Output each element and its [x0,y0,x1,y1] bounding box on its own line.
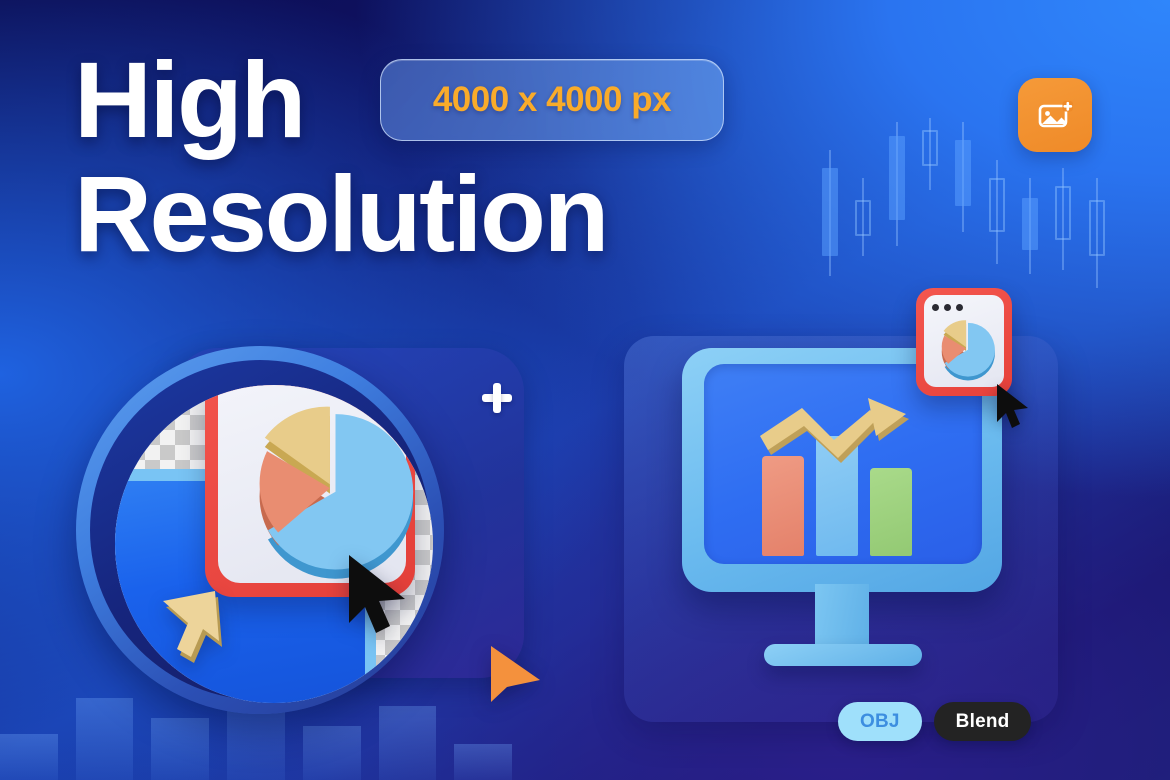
black-arrow-cursor [993,382,1033,430]
bar-1 [762,456,804,556]
candlestick [1022,128,1038,318]
candlestick-body [955,140,971,206]
plus-icon[interactable] [482,383,512,413]
lens-viewport [115,385,433,703]
candlestick-body [1089,200,1105,256]
candlestick [855,128,871,318]
candlestick-wick [1096,178,1098,288]
tag-blend-label: Blend [956,711,1010,733]
decoration-bar [151,718,209,780]
tag-blend[interactable]: Blend [934,702,1032,741]
tag-obj[interactable]: OBJ [838,702,922,741]
candlestick [1055,128,1071,318]
candlestick [1089,128,1105,318]
candlestick-body [989,178,1005,232]
lens-ring-outer [76,346,444,714]
page-title: High 4000 x 4000 px Resolution [74,48,724,265]
format-tags: OBJ Blend [838,702,1031,741]
candlestick-body [889,136,905,220]
monitor-base [764,644,922,666]
resolution-badge[interactable]: 4000 x 4000 px [380,59,724,141]
candlestick-body [822,168,838,256]
window-control-dots [932,304,963,311]
headline-line-1: High [74,48,304,152]
bar-3 [870,468,912,556]
candlestick [889,128,905,318]
black-arrow-cursor [343,553,413,637]
candlestick-body [855,200,871,236]
candlestick-wick [896,122,898,246]
headline-line-2: Resolution [74,162,724,266]
candlestick-wick [996,160,998,264]
desktop-monitor-icon [682,348,1012,668]
candlestick-wick [962,122,964,232]
window-dot-3 [956,304,963,311]
decoration-bar [454,744,512,780]
candlestick-body [922,130,938,166]
add-image-icon [1035,95,1075,135]
decoration-bar [0,734,58,780]
candlestick-wick [862,178,864,256]
candlestick-body [1022,198,1038,250]
candlestick-wick [829,150,831,276]
window-dot-1 [932,304,939,311]
yellow-arrow-cursor [155,575,237,667]
candlestick [822,128,838,318]
zoom-preview-circle[interactable] [70,340,490,720]
add-image-button[interactable] [1018,78,1092,152]
trend-arrow-icon [750,392,930,464]
candlestick-wick [1029,178,1031,274]
orange-arrow-cursor [483,640,545,706]
window-dot-2 [944,304,951,311]
mini-pie-chart [936,319,1000,383]
poster-canvas: High 4000 x 4000 px Resolution [0,0,1170,780]
mini-browser-window [916,288,1012,396]
candlestick-wick [929,118,931,190]
decoration-bar [303,726,361,780]
candlestick-wick [1062,168,1064,270]
mini-window-content [924,295,1004,387]
tag-obj-label: OBJ [860,711,900,733]
candlestick-body [1055,186,1071,240]
resolution-badge-label: 4000 x 4000 px [433,83,671,117]
lens-ring-inner [90,360,430,700]
